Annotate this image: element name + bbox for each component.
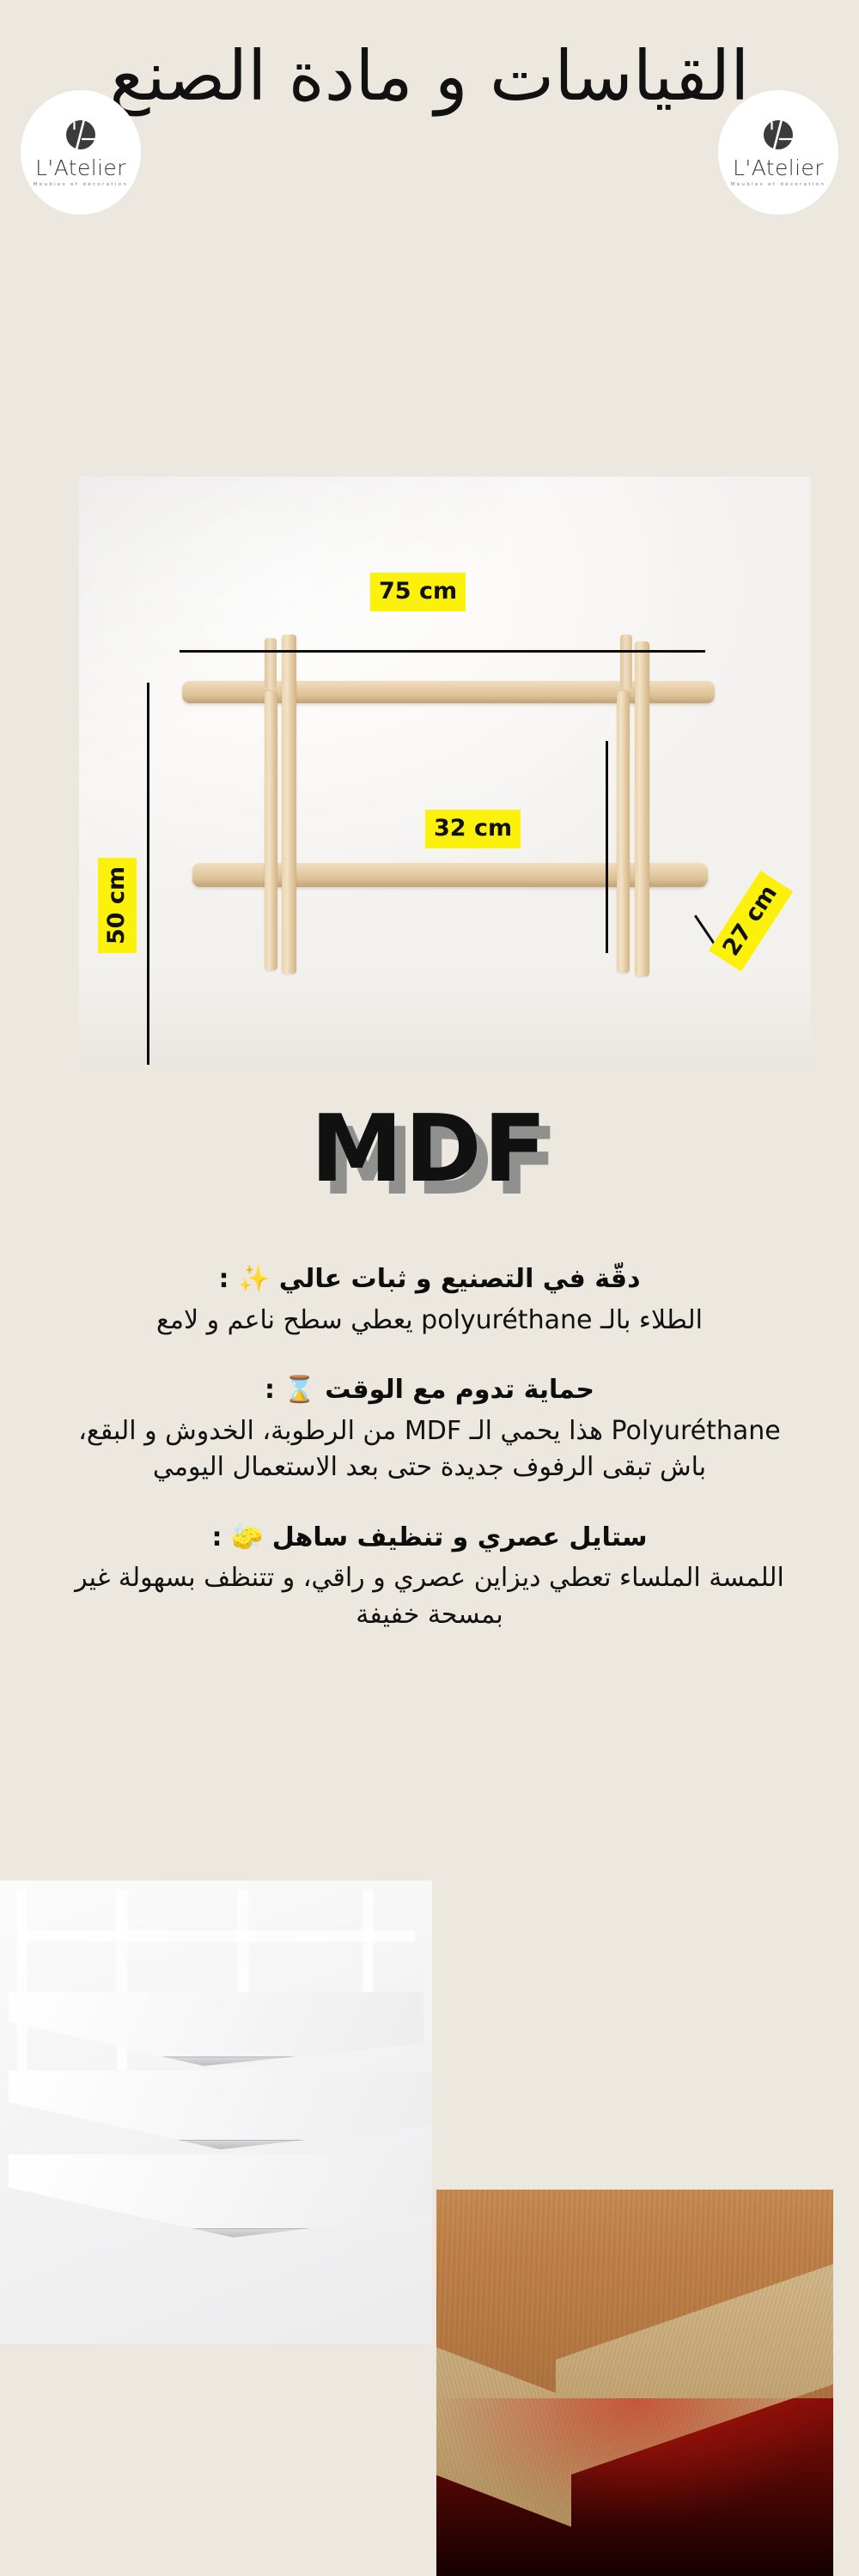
- dimension-label-shelf-gap: 32 cm: [425, 810, 521, 848]
- feature-heading: دقّة في التصنيع و ثبات عالي ✨ :: [34, 1262, 825, 1297]
- mdf-panel-top: [9, 1992, 423, 2066]
- panel-edge: [9, 2140, 432, 2149]
- feature-item-precision: دقّة في التصنيع و ثبات عالي ✨ : الطلاء ب…: [34, 1262, 825, 1339]
- mdf-panel-bottom: [9, 2154, 432, 2238]
- panel-face: [9, 2070, 432, 2149]
- dimension-line-height: [147, 683, 149, 1065]
- shelf-leg-left-front: [282, 635, 296, 974]
- brand-logo-left: L'Atelier Meubles et décoration: [21, 90, 141, 215]
- window-reflection: [17, 1931, 415, 1941]
- brand-name: L'Atelier: [35, 157, 126, 179]
- shelf-leg-right-front: [635, 641, 649, 976]
- panel-face: [9, 2154, 432, 2238]
- dimension-label-height: 50 cm: [98, 858, 137, 953]
- shelf-leg-right-rear: [617, 691, 630, 973]
- header: القياسات و مادة الصنع L'Atelier Meubles …: [0, 0, 859, 404]
- panel-edge: [9, 2057, 423, 2066]
- feature-body: الطلاء بالـ polyuréthane يعطي سطح ناعم و…: [34, 1303, 825, 1340]
- brand-tagline: Meubles et décoration: [34, 183, 129, 187]
- features-list: دقّة في التصنيع و ثبات عالي ✨ : الطلاء ب…: [34, 1262, 825, 1659]
- dimension-line-width: [180, 650, 705, 653]
- shelf-post-right-upper: [620, 635, 632, 690]
- mdf-panel-middle: [9, 2070, 432, 2149]
- brand-name: L'Atelier: [733, 157, 824, 179]
- feature-heading: ستايل عصري و تنظيف ساهل 🧽 :: [34, 1521, 825, 1556]
- feature-body: اللمسة الملساء تعطي ديزاين عصري و راقي، …: [34, 1560, 825, 1633]
- infographic-page: القياسات و مادة الصنع L'Atelier Meubles …: [0, 0, 859, 2576]
- atelier-circle-mark-icon: [63, 117, 99, 153]
- dimension-line-shelf-gap: [606, 741, 608, 953]
- feature-item-style: ستايل عصري و تنظيف ساهل 🧽 : اللمسة الملس…: [34, 1521, 825, 1634]
- dimension-label-width: 75 cm: [370, 573, 466, 611]
- shelf-illustration: [182, 629, 715, 986]
- feature-body: Polyuréthane هذا يحمي الـ MDF من الرطوبة…: [34, 1413, 825, 1486]
- gallery-image-white-mdf-panels: [0, 1880, 432, 2344]
- feature-heading: حماية تدوم مع الوقت ⌛ :: [34, 1373, 825, 1408]
- gallery-image-wood-veneer-mdf: [436, 2190, 833, 2576]
- material-title: MDF: [0, 1103, 859, 1196]
- panel-edge: [9, 2228, 432, 2238]
- feature-item-durability: حماية تدوم مع الوقت ⌛ : Polyuréthane هذا…: [34, 1373, 825, 1486]
- panel-face: [9, 1992, 423, 2066]
- shelf-leg-left-rear: [265, 691, 277, 970]
- dimension-label-depth: 27 cm: [709, 871, 793, 972]
- shelf-post-left-upper: [265, 638, 277, 690]
- red-backdrop-glow: [436, 2398, 833, 2576]
- atelier-circle-mark-icon: [760, 117, 796, 153]
- brand-tagline: Meubles et décoration: [731, 183, 826, 187]
- brand-logo-right: L'Atelier Meubles et décoration: [718, 90, 838, 215]
- product-photo-shelf: 75 cm 50 cm 32 cm 27 cm: [79, 477, 811, 1065]
- page-title: القياسات و مادة الصنع: [103, 34, 756, 118]
